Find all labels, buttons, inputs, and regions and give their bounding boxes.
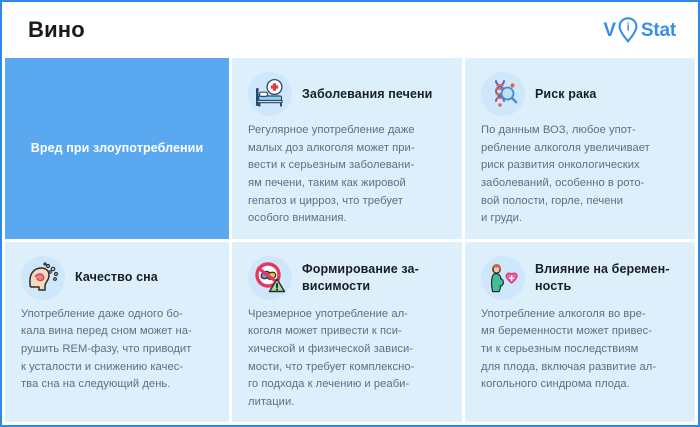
hospital-bed-icon bbox=[248, 72, 292, 116]
cell-header: Заболевания печени bbox=[248, 72, 446, 116]
content-grid: Вред при злоупотреблении bbox=[2, 58, 698, 425]
feature-panel: Вред при злоупотреблении bbox=[5, 58, 229, 239]
brand-logo-prefix: V bbox=[603, 21, 615, 40]
cell-title: Формирование за- висимости bbox=[302, 261, 446, 294]
cell-title: Качество сна bbox=[75, 269, 158, 286]
svg-text:i: i bbox=[626, 22, 629, 34]
info-cell-sleep-quality: Качество сна Употребление даже одного бо… bbox=[5, 242, 229, 423]
infographic-card: Вино V i Stat Вред при злоупотреблении bbox=[0, 0, 700, 427]
cell-body: Чрезмерное употребление ал- коголя может… bbox=[248, 306, 446, 412]
brain-sleep-icon bbox=[21, 256, 65, 300]
cell-title: Риск рака bbox=[535, 86, 596, 103]
cell-header: Влияние на беремен- ность bbox=[481, 256, 679, 300]
dna-research-icon bbox=[481, 72, 525, 116]
cell-body: По данным ВОЗ, любое упот- ребление алко… bbox=[481, 122, 679, 228]
cell-header: Качество сна bbox=[21, 256, 213, 300]
cell-body: Употребление алкоголя во вре- мя беремен… bbox=[481, 306, 679, 394]
brand-logo: V i Stat bbox=[603, 17, 676, 43]
brand-logo-suffix: Stat bbox=[641, 21, 676, 40]
cell-header: Формирование за- висимости bbox=[248, 256, 446, 300]
info-cell-addiction: Формирование за- висимости Чрезмерное уп… bbox=[232, 242, 462, 423]
cell-body: Употребление даже одного бо- кала вина п… bbox=[21, 306, 213, 394]
cell-title: Влияние на беремен- ность bbox=[535, 261, 679, 294]
cell-body: Регулярное употребление даже малых доз а… bbox=[248, 122, 446, 228]
feature-panel-label: Вред при злоупотреблении bbox=[31, 140, 204, 157]
addiction-warning-icon bbox=[248, 256, 292, 300]
info-cell-cancer-risk: Риск рака По данным ВОЗ, любое упот- реб… bbox=[465, 58, 695, 239]
cell-header: Риск рака bbox=[481, 72, 679, 116]
location-pin-icon: i bbox=[617, 17, 639, 43]
page-title: Вино bbox=[28, 19, 85, 41]
info-cell-liver-disease: Заболевания печени Регулярное употреблен… bbox=[232, 58, 462, 239]
card-header: Вино V i Stat bbox=[2, 2, 698, 58]
info-cell-pregnancy: Влияние на беремен- ность Употребление а… bbox=[465, 242, 695, 423]
cell-title: Заболевания печени bbox=[302, 86, 432, 103]
pregnancy-icon bbox=[481, 256, 525, 300]
